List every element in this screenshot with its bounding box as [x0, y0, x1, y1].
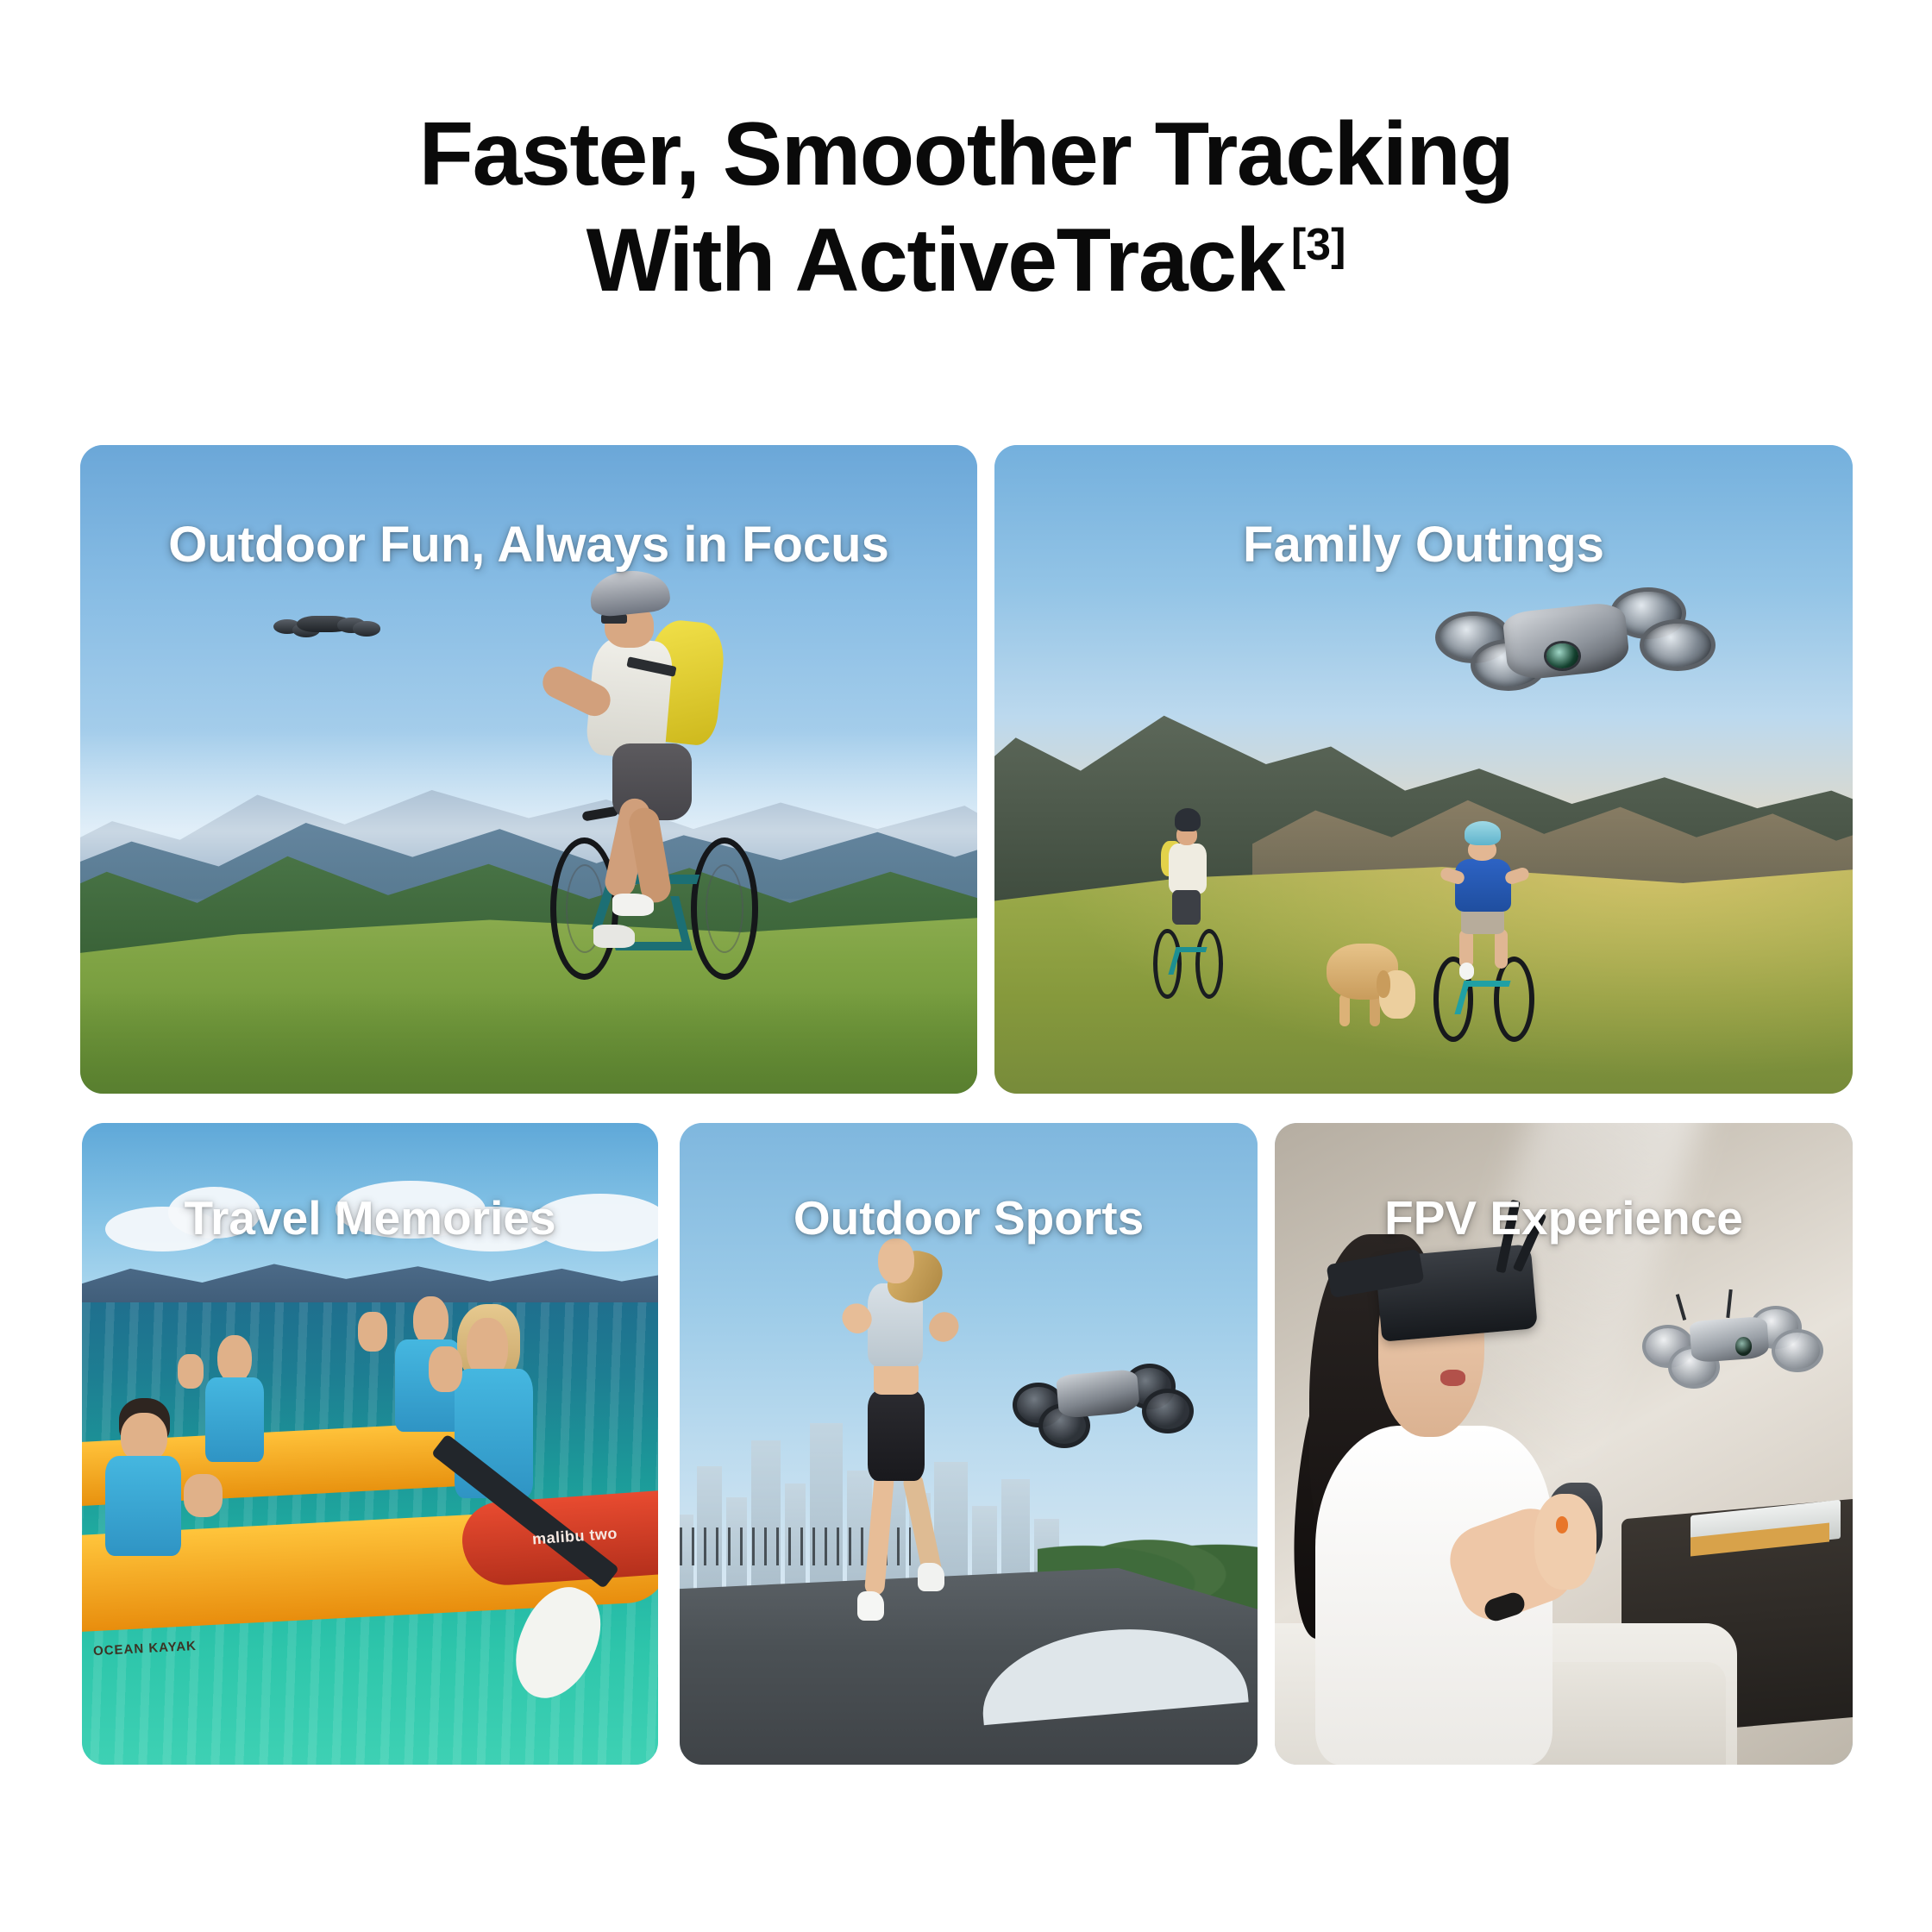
bike-helmet [1175, 808, 1201, 831]
child-torso [1455, 859, 1511, 912]
dog-leg [1339, 994, 1350, 1027]
drone-icon [1009, 1347, 1194, 1450]
drone-antenna [1676, 1294, 1687, 1320]
scenario-card-label: Outdoor Sports [680, 1190, 1258, 1245]
waving-hand [358, 1312, 387, 1352]
drone-body [1690, 1316, 1770, 1363]
drone-propeller [353, 621, 380, 636]
runner-midriff [874, 1362, 919, 1395]
scenario-card-grid: Outdoor Fun, Always in Focus [0, 0, 1932, 1932]
pilot-hand [1534, 1494, 1596, 1590]
scenario-card-outdoor-fun[interactable]: Outdoor Fun, Always in Focus [80, 445, 977, 1094]
waving-hand [178, 1354, 204, 1388]
scenario-card-fpv-experience[interactable]: FPV Experience [1275, 1123, 1853, 1765]
scenario-card-label: Outdoor Fun, Always in Focus [80, 516, 977, 574]
life-vest [205, 1377, 264, 1462]
drone-antenna [1726, 1289, 1733, 1319]
life-vest [105, 1456, 181, 1557]
pilot-lips [1440, 1370, 1465, 1387]
scenario-card-family-outings[interactable]: Family Outings [994, 445, 1853, 1094]
bike-front-wheel [691, 837, 759, 979]
scenario-card-label: Travel Memories [82, 1190, 658, 1245]
marketing-page: Faster, Smoother Tracking With ActiveTra… [0, 0, 1932, 1932]
runner-shorts [868, 1390, 925, 1481]
adult-legs [1172, 890, 1201, 925]
drone-ducted-propeller [1772, 1329, 1823, 1372]
bike-frame [1455, 981, 1511, 1014]
waving-hand [429, 1346, 461, 1393]
drone-body [1056, 1369, 1140, 1419]
running-shoe [918, 1563, 944, 1591]
adult-cyclist-figure [1140, 808, 1234, 1003]
drone-ducted-propeller [1640, 619, 1716, 671]
girl-head [217, 1335, 252, 1383]
drone-icon [1639, 1289, 1823, 1392]
child-shoe [1459, 963, 1474, 980]
scenario-card-label: FPV Experience [1275, 1190, 1853, 1245]
drone-body [1502, 600, 1632, 681]
drone-camera-lens [1735, 1337, 1752, 1355]
runner-figure [825, 1239, 975, 1649]
scenario-card-outdoor-sports[interactable]: Outdoor Sports [680, 1123, 1258, 1765]
runner-arm [924, 1306, 965, 1347]
child-leg [1495, 929, 1508, 969]
rider-shoe [593, 925, 635, 947]
adult-torso [1169, 844, 1207, 894]
drone-icon [273, 611, 381, 639]
runner-leg [864, 1472, 894, 1596]
adult-bicycle [1153, 917, 1223, 999]
bike-helmet [1465, 821, 1501, 845]
drone-ducted-propeller [1142, 1389, 1194, 1433]
dog-figure [1320, 925, 1414, 1028]
bike-helmet [587, 567, 670, 618]
waving-hand [184, 1474, 223, 1517]
scenario-card-label: Family Outings [994, 516, 1853, 574]
dog-ear [1377, 970, 1390, 997]
child-cyclist-figure [1424, 821, 1544, 1042]
rider-shoe [612, 894, 654, 916]
drone-camera-lens [1546, 643, 1578, 668]
child-boy-figure [93, 1405, 209, 1584]
child-bicycle [1433, 949, 1534, 1041]
running-shoe [857, 1591, 884, 1620]
drone-icon [1424, 574, 1716, 698]
controller-indicator [1556, 1516, 1568, 1534]
scenario-card-travel-memories[interactable]: OCEAN KAYAK malibu two Travel Memories [82, 1123, 658, 1765]
cyclist-figure [439, 561, 816, 1015]
fpv-pilot-figure [1309, 1200, 1621, 1765]
